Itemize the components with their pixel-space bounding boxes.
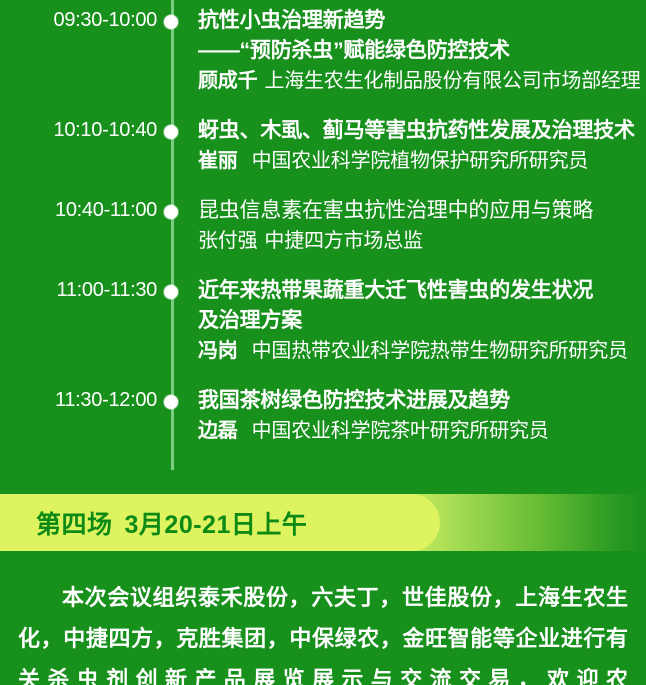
schedule-item-body: 抗性小虫治理新趋势——“预防杀虫”赋能绿色防控技术顾成千上海生农生化制品股份有限… <box>171 6 646 96</box>
timeline-dot-icon <box>164 205 178 219</box>
schedule-item[interactable]: 09:30-10:00抗性小虫治理新趋势——“预防杀虫”赋能绿色防控技术顾成千上… <box>0 6 646 96</box>
schedule-item[interactable]: 10:40-11:00昆虫信息素在害虫抗性治理中的应用与策略张付强中捷四方市场总… <box>0 196 646 256</box>
schedule-item-title-line: 昆虫信息素在害虫抗性治理中的应用与策略 <box>198 196 640 226</box>
schedule-item-speaker-line: 张付强中捷四方市场总监 <box>198 226 640 256</box>
schedule-item-title-line: ——“预防杀虫”赋能绿色防控技术 <box>198 36 641 66</box>
section-banner-label: 第四场 <box>36 505 113 541</box>
timeline-dot-icon <box>164 15 178 29</box>
schedule-item-title-line: 及治理方案 <box>198 306 640 336</box>
schedule-item-body: 昆虫信息素在害虫抗性治理中的应用与策略张付强中捷四方市场总监 <box>171 196 646 256</box>
section-banner-date: 3月20-21日上午 <box>125 505 308 541</box>
schedule-item-speaker-org: 上海生农生化制品股份有限公司市场部经理 <box>264 70 640 92</box>
schedule-item-time: 09:30-10:00 <box>0 6 171 34</box>
schedule-item-title-line: 近年来热带果蔬重大迁飞性害虫的发生状况 <box>198 276 640 306</box>
schedule-item[interactable]: 10:10-10:40蚜虫、木虱、蓟马等害虫抗药性发展及治理技术崔丽中国农业科学… <box>0 116 646 176</box>
schedule-item-time: 11:00-11:30 <box>0 276 171 304</box>
schedule-item-speaker-org: 中捷四方市场总监 <box>264 230 422 252</box>
schedule-item-speaker-line: 崔丽中国农业科学院植物保护研究所研究员 <box>198 146 640 176</box>
schedule-item-speaker-line: 顾成千上海生农生化制品股份有限公司市场部经理 <box>198 66 641 96</box>
schedule-item-time: 11:30-12:00 <box>0 386 171 414</box>
schedule-item-title-line: 抗性小虫治理新趋势 <box>198 6 641 36</box>
schedule-item-speaker-name: 崔丽 <box>198 150 238 172</box>
schedule-item-body: 我国茶树绿色防控技术进展及趋势边磊中国农业科学院茶叶研究所研究员 <box>171 386 646 446</box>
schedule-item-speaker-name: 冯岗 <box>198 340 238 362</box>
schedule-item-body: 近年来热带果蔬重大迁飞性害虫的发生状况及治理方案冯岗中国热带农业科学院热带生物研… <box>171 276 646 366</box>
conference-agenda-page: 09:30-10:00抗性小虫治理新趋势——“预防杀虫”赋能绿色防控技术顾成千上… <box>0 0 646 685</box>
schedule-item-title-line: 我国茶树绿色防控技术进展及趋势 <box>198 386 640 416</box>
schedule-item-speaker-org: 中国热带农业科学院热带生物研究所研究员 <box>252 340 628 362</box>
timeline-dot-icon <box>164 125 178 139</box>
schedule-item-speaker-name: 顾成千 <box>198 70 257 92</box>
schedule-item-time: 10:40-11:00 <box>0 196 171 224</box>
schedule-item-speaker-line: 冯岗中国热带农业科学院热带生物研究所研究员 <box>198 336 640 366</box>
footer-paragraph: 本次会议组织泰禾股份，六夫丁，世佳股份，上海生农生化，中捷四方，克胜集团，中保绿… <box>0 577 646 685</box>
schedule-item-speaker-name: 边磊 <box>198 420 238 442</box>
schedule-item[interactable]: 11:30-12:00我国茶树绿色防控技术进展及趋势边磊中国农业科学院茶叶研究所… <box>0 386 646 446</box>
schedule-item[interactable]: 11:00-11:30近年来热带果蔬重大迁飞性害虫的发生状况及治理方案冯岗中国热… <box>0 276 646 366</box>
section-banner-text: 第四场 3月20-21日上午 <box>36 494 307 551</box>
schedule-item-speaker-line: 边磊中国农业科学院茶叶研究所研究员 <box>198 416 640 446</box>
timeline-dot-icon <box>164 395 178 409</box>
schedule-item-speaker-org: 中国农业科学院植物保护研究所研究员 <box>252 150 589 172</box>
schedule-item-time: 10:10-10:40 <box>0 116 171 144</box>
schedule-item-title-line: 蚜虫、木虱、蓟马等害虫抗药性发展及治理技术 <box>198 116 640 146</box>
schedule-item-body: 蚜虫、木虱、蓟马等害虫抗药性发展及治理技术崔丽中国农业科学院植物保护研究所研究员 <box>171 116 646 176</box>
schedule-item-speaker-name: 张付强 <box>198 230 257 252</box>
schedule-item-speaker-org: 中国农业科学院茶叶研究所研究员 <box>252 420 549 442</box>
timeline-dot-icon <box>164 285 178 299</box>
section-banner: 第四场 3月20-21日上午 <box>0 494 646 551</box>
